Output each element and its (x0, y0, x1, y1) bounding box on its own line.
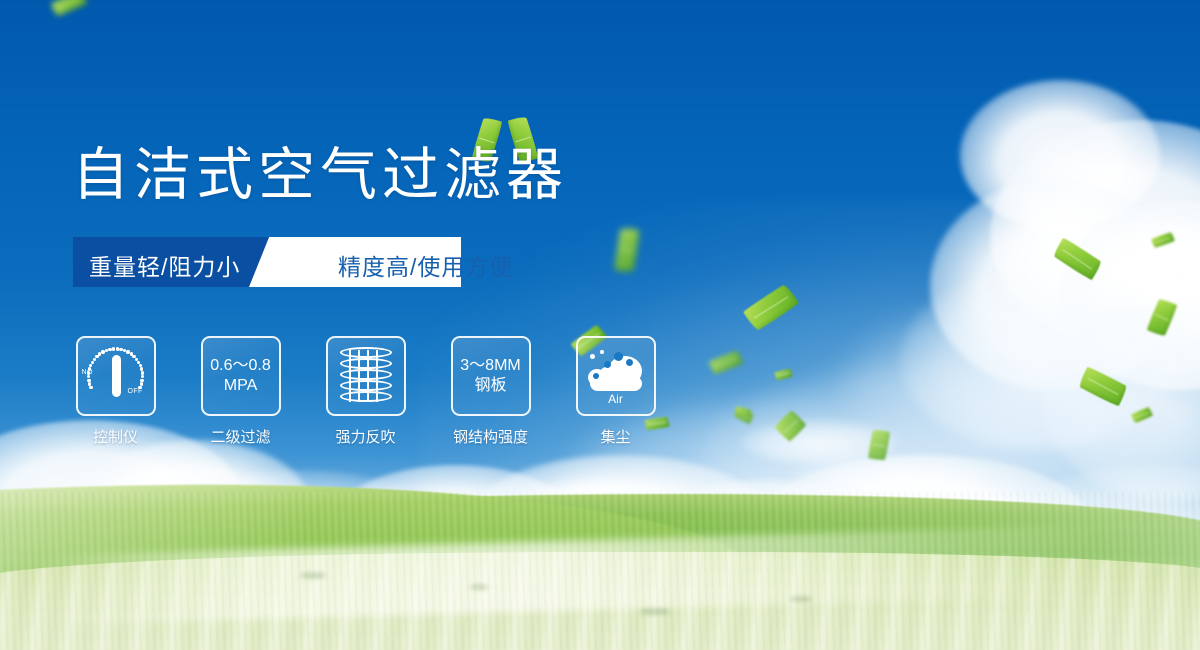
coil-ring-4 (340, 380, 392, 391)
air-cloud-icon: Air (584, 348, 648, 404)
coil-bar-4 (376, 350, 379, 402)
page-title: 自洁式空气过滤器 (72, 141, 568, 209)
feature-box-filtration: 0.6～0.8 MPA (201, 336, 281, 416)
gauge-tick (89, 386, 92, 389)
gauge-tick (87, 379, 90, 382)
gauge-icon: NO OFF (81, 342, 151, 410)
grass-detail-2 (470, 584, 488, 590)
steel-line-2: 钢板 (460, 376, 520, 396)
feature-box-control: NO OFF (76, 336, 156, 416)
coil-filter-icon (340, 347, 392, 405)
pressure-line-1: 0.6～0.8 (210, 357, 271, 374)
promo-banner: 自洁式空气过滤器 重量轻/阻力小 精度高/使用方便 NO OFF 控制仪 0.6… (0, 0, 1200, 650)
feature-list: NO OFF 控制仪 0.6～0.8 MPA 二级过滤 (73, 336, 658, 447)
feature-item-filtration[interactable]: 0.6～0.8 MPA 二级过滤 (198, 336, 283, 447)
gauge-tick (112, 347, 115, 350)
feature-item-blowback[interactable]: 强力反吹 (323, 336, 408, 447)
gauge-tick (89, 364, 92, 367)
coil-ring-2 (340, 358, 392, 369)
steel-line-1: 3～8MM (460, 357, 520, 374)
feature-label-control: 控制仪 (93, 426, 138, 447)
dust-speck-1 (590, 354, 595, 359)
dust-gap-4 (593, 373, 599, 379)
steel-text-icon: 3～8MM 钢板 (460, 356, 520, 396)
gauge-tick (138, 386, 141, 389)
dust-gap-3 (604, 361, 611, 368)
gauge-tick (88, 367, 91, 370)
coil-ring-5 (340, 391, 392, 402)
tagline-right-text: 精度高/使用方便 (338, 248, 513, 282)
tagline-badge: 重量轻/阻力小 精度高/使用方便 (73, 237, 461, 287)
feature-item-control[interactable]: NO OFF 控制仪 (73, 336, 158, 447)
feature-box-dust: Air (576, 336, 656, 416)
air-caption: Air (584, 392, 648, 406)
feature-item-dust[interactable]: Air 集尘 (573, 336, 658, 447)
coil-bar-3 (367, 350, 370, 402)
coil-bar-2 (358, 350, 361, 402)
gauge-label-off: OFF (128, 388, 143, 395)
feature-box-steel: 3～8MM 钢板 (451, 336, 531, 416)
coil-ring-3 (340, 369, 392, 380)
dust-gap-2 (626, 359, 633, 366)
feature-label-steel: 钢结构强度 (453, 426, 528, 447)
gauge-tick (87, 375, 90, 378)
grass-texture-overlay (0, 492, 1200, 650)
feature-item-steel[interactable]: 3～8MM 钢板 钢结构强度 (448, 336, 533, 447)
feature-label-filtration: 二级过滤 (210, 426, 270, 447)
gauge-tick (87, 371, 90, 374)
tagline-left-text: 重量轻/阻力小 (89, 248, 240, 282)
gauge-tick (88, 382, 91, 385)
feature-box-blowback (326, 336, 406, 416)
gauge-tick (91, 361, 94, 364)
dust-speck-2 (600, 350, 604, 354)
feature-label-dust: 集尘 (600, 426, 630, 447)
feature-label-blowback: 强力反吹 (335, 426, 395, 447)
grass-detail-4 (640, 608, 670, 615)
gauge-tick (141, 375, 144, 378)
coil-bar-1 (349, 350, 352, 402)
pressure-text-icon: 0.6～0.8 MPA (210, 356, 271, 396)
dust-gap-1 (614, 352, 623, 361)
grass-detail-1 (300, 572, 326, 579)
grass-detail-3 (790, 596, 812, 602)
pressure-line-2: MPA (210, 376, 271, 396)
coil-ring-1 (340, 347, 392, 358)
gauge-needle (112, 355, 121, 397)
